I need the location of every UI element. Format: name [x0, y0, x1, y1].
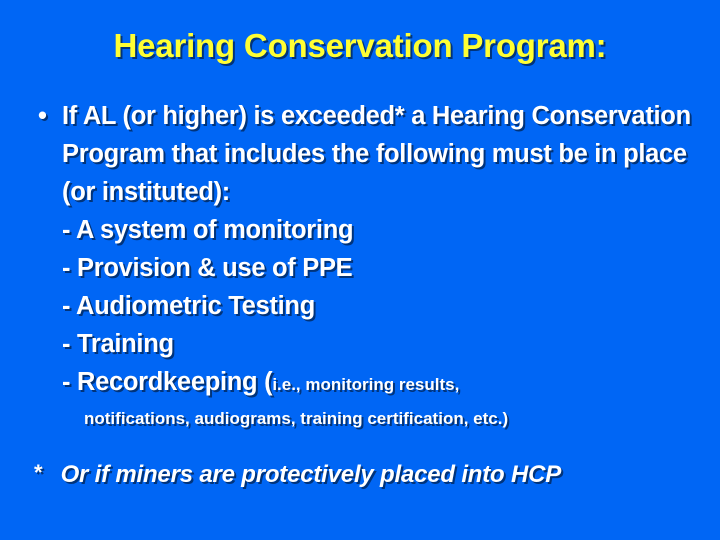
list-item: - Audiometric Testing: [62, 287, 704, 325]
main-bullet-text: If AL (or higher) is exceeded* a Hearing…: [62, 97, 704, 211]
recordkeeping-note-line2: notifications, audiograms, training cert…: [34, 404, 704, 434]
dash-marker: -: [62, 216, 70, 244]
footnote-asterisk-marker: *: [34, 458, 43, 488]
dash-marker: -: [62, 368, 70, 396]
list-item: - Training: [62, 325, 704, 363]
footnote: *Or if miners are protectively placed in…: [34, 458, 704, 492]
slide-canvas: Hearing Conservation Program: • If AL (o…: [0, 0, 720, 540]
dash-marker: -: [62, 292, 70, 320]
list-item-label: Training: [77, 330, 174, 358]
list-item-recordkeeping: - Recordkeeping (i.e., monitoring result…: [62, 363, 704, 404]
sub-requirements-list: - A system of monitoring - Provision & u…: [34, 211, 704, 404]
list-item: - A system of monitoring: [62, 211, 704, 249]
list-item-label: Provision & use of PPE: [77, 254, 352, 282]
bullet-dot-icon: •: [38, 97, 47, 135]
list-item-label: Recordkeeping: [77, 368, 257, 396]
dash-marker: -: [62, 254, 70, 282]
paren-open: (: [257, 368, 272, 396]
slide-body: • If AL (or higher) is exceeded* a Heari…: [34, 97, 704, 434]
list-item-label: A system of monitoring: [76, 216, 353, 244]
recordkeeping-note-line1: i.e., monitoring results,: [272, 375, 459, 394]
main-bullet-item: • If AL (or higher) is exceeded* a Heari…: [34, 97, 704, 211]
footnote-text: Or if miners are protectively placed int…: [61, 458, 562, 492]
page-title: Hearing Conservation Program:: [0, 27, 720, 65]
list-item: - Provision & use of PPE: [62, 249, 704, 287]
list-item-label: Audiometric Testing: [76, 292, 315, 320]
dash-marker: -: [62, 330, 70, 358]
